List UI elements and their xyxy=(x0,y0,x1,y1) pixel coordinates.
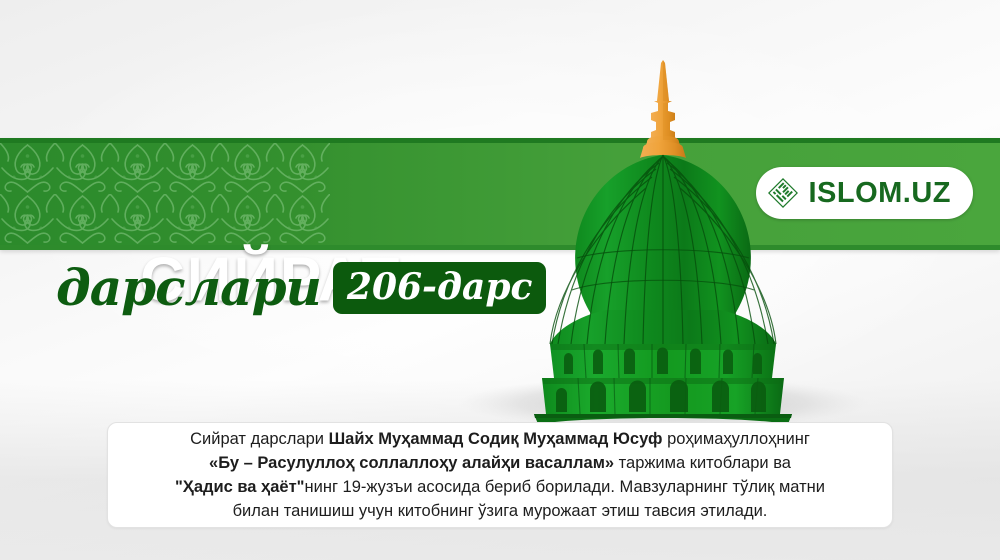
subtitle-row: дарслари 206-дарс xyxy=(56,262,546,314)
caption-l3-b: нинг 19-жузъи асосида бериб борилади. Ма… xyxy=(305,478,826,496)
caption-line-4: билан танишиш учун китобнинг ўзига мурож… xyxy=(233,499,768,523)
caption-l1-author: Шайх Муҳаммад Содиқ Муҳаммад Юсуф xyxy=(329,430,663,448)
arabic-calligraphy-mark xyxy=(768,178,798,208)
islom-uz-logo[interactable]: ISLOM.UZ xyxy=(756,167,973,219)
caption-l2-b: таржима китоблари ва xyxy=(614,454,791,472)
caption-line-3: "Ҳадис ва ҳаёт"нинг 19-жузъи асосида бер… xyxy=(175,475,825,499)
caption-l2-booktitle: «Бу – Расулуллоҳ соллаллоҳу алайҳи васал… xyxy=(209,454,614,472)
caption-l1-a: Сийрат дарслари xyxy=(190,430,329,448)
caption-l1-c: роҳимаҳуллоҳнинг xyxy=(663,430,810,448)
caption-l3-source: "Ҳадис ва ҳаёт" xyxy=(175,478,305,496)
lesson-number-badge: 206-дарс xyxy=(333,262,547,314)
description-card: Сийрат дарслари Шайх Муҳаммад Содиқ Муҳа… xyxy=(107,422,893,528)
subtitle-script: дарслари xyxy=(56,263,321,313)
arabesque-pattern xyxy=(0,143,330,245)
gold-finial xyxy=(640,60,686,158)
green-mosque-dome xyxy=(438,58,888,428)
poster-canvas: СИЙРАТ xyxy=(0,0,1000,560)
caption-line-1: Сийрат дарслари Шайх Муҳаммад Содиқ Муҳа… xyxy=(190,427,810,451)
logo-text: ISLOM.UZ xyxy=(808,179,951,208)
caption-line-2: «Бу – Расулуллоҳ соллаллоҳу алайҳи васал… xyxy=(209,451,791,475)
